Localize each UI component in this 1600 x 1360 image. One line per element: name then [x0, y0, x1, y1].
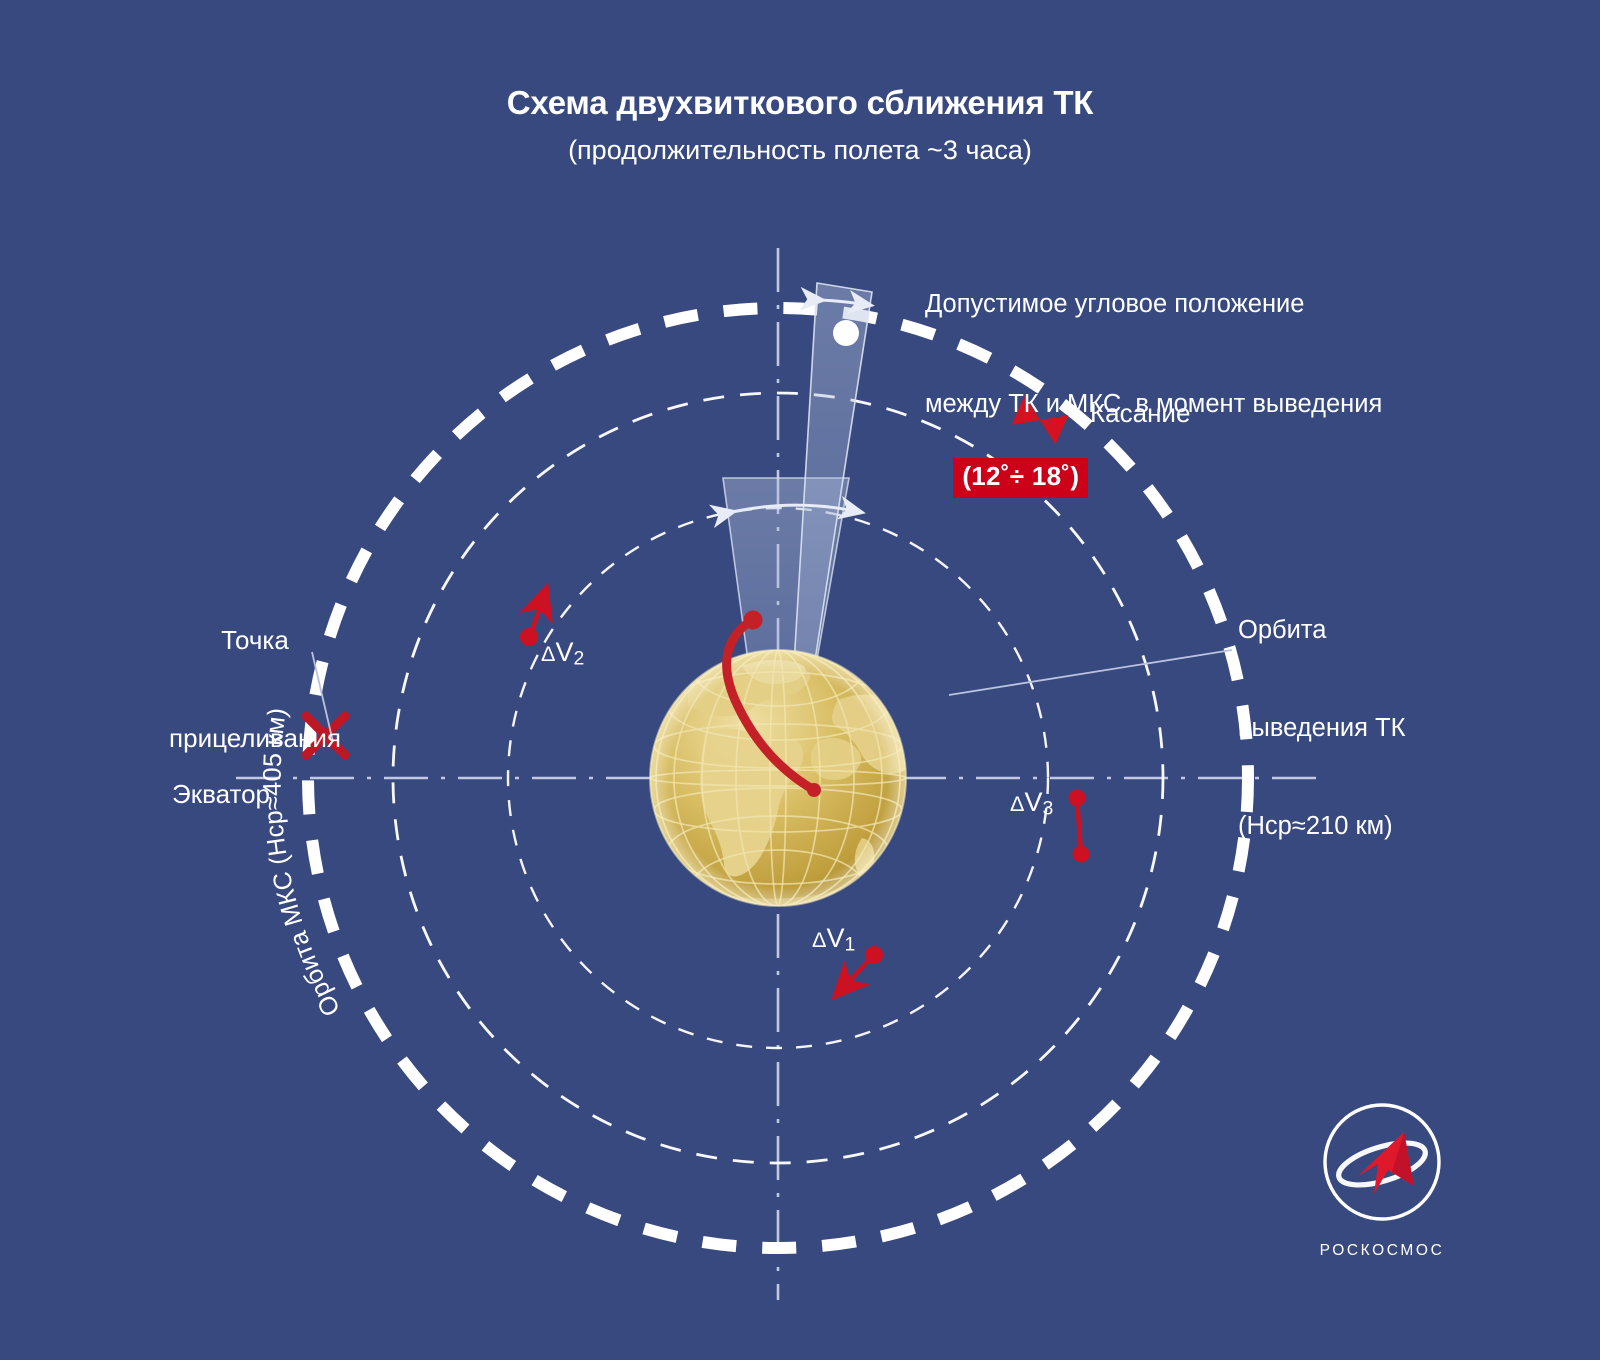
dv2-delta: Δ [541, 641, 555, 666]
tk-orbit-leader [949, 650, 1232, 695]
equator-label: Экватор [172, 779, 270, 811]
tk-orbit-line3: (Hср≈210 км) [1238, 810, 1405, 843]
angle-window-annotation: Допустимое угловое положение между ТК и … [925, 222, 1465, 531]
infographic-root: Орбита МКС (Hср≈405 км) [0, 0, 1600, 1360]
dv1-index: 1 [844, 933, 855, 955]
trajectory-end-dot [744, 611, 763, 630]
dv3-delta: Δ [1010, 791, 1024, 816]
touch-label: Касание [1090, 398, 1190, 430]
aim-point-line2: прицеливания [100, 722, 410, 755]
burn-dv2-label: ΔV2 [541, 636, 584, 671]
burn-dv3-label: ΔV3 [1010, 786, 1053, 821]
angle-window-line1: Допустимое угловое положение [925, 288, 1465, 321]
angle-window-badge: (12˚÷ 18˚) [953, 458, 1088, 498]
burn-dv1-label: ΔV1 [812, 922, 855, 957]
dv1-delta: Δ [812, 927, 826, 952]
earth-globe [650, 626, 920, 930]
roscosmos-emblem-icon [1318, 1098, 1446, 1226]
page-subtitle: (продолжительность полета ~3 часа) [0, 135, 1600, 166]
aim-point-line1: Точка [100, 624, 410, 657]
dv2-index: 2 [573, 647, 584, 669]
tk-orbit-line1: Орбита [1238, 614, 1405, 647]
roscosmos-logo: РОСКОСМОС [1318, 1098, 1446, 1260]
iss-position-dot [833, 320, 859, 346]
dv2-letter: V [555, 637, 573, 667]
dv3-index: 3 [1042, 797, 1053, 819]
dv3-letter: V [1024, 787, 1042, 817]
angle-window-line2: между ТК и МКС в момент выведения [925, 388, 1465, 421]
tk-orbit-label: Орбита выведения ТК (Hср≈210 км) [1238, 549, 1405, 908]
tk-orbit-line2: выведения ТК [1238, 712, 1405, 745]
roscosmos-wordmark: РОСКОСМОС [1318, 1242, 1446, 1260]
dv1-letter: V [826, 923, 844, 953]
page-title: Схема двухвиткового сближения ТК [0, 84, 1600, 122]
burn-dv3-marker [1069, 790, 1090, 863]
